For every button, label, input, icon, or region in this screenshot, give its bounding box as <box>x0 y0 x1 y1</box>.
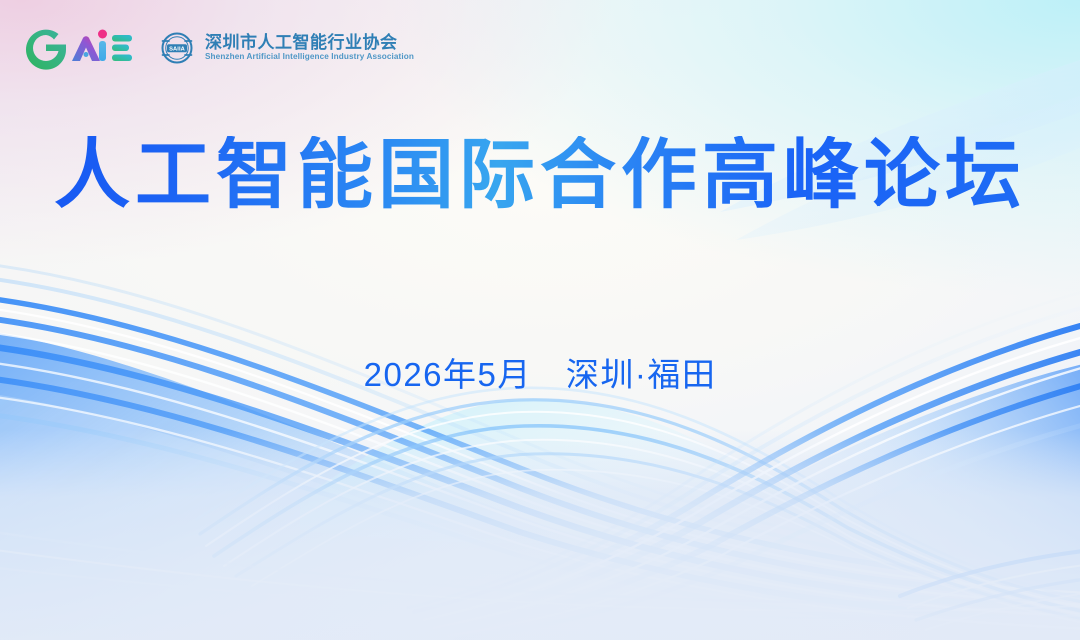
saiia-name-cn: 深圳市人工智能行业协会 <box>205 34 414 52</box>
gaie-logo-icon <box>24 26 136 70</box>
title-area: 人工智能国际合作高峰论坛 <box>0 136 1080 216</box>
event-date: 2026年5月 <box>364 356 532 393</box>
event-poster: SAIIA 深圳市人工智能行业协会 Shenzhen Artificial In… <box>0 0 1080 640</box>
event-location: 深圳·福田 <box>566 356 717 393</box>
page-title: 人工智能国际合作高峰论坛 <box>0 136 1080 216</box>
saiia-name-en: Shenzhen Artificial Intelligence Industr… <box>205 53 414 62</box>
saiia-text-block: 深圳市人工智能行业协会 Shenzhen Artificial Intellig… <box>205 34 414 61</box>
logo-bar: SAIIA 深圳市人工智能行业协会 Shenzhen Artificial In… <box>24 26 414 70</box>
subtitle-area: 2026年5月深圳·福田 <box>0 348 1080 396</box>
saiia-logo: SAIIA 深圳市人工智能行业协会 Shenzhen Artificial In… <box>158 29 414 67</box>
saiia-seal-icon: SAIIA <box>158 29 196 67</box>
svg-text:SAIIA: SAIIA <box>169 46 185 52</box>
background-floor <box>0 430 1080 640</box>
event-details: 2026年5月深圳·福田 <box>0 348 1080 396</box>
